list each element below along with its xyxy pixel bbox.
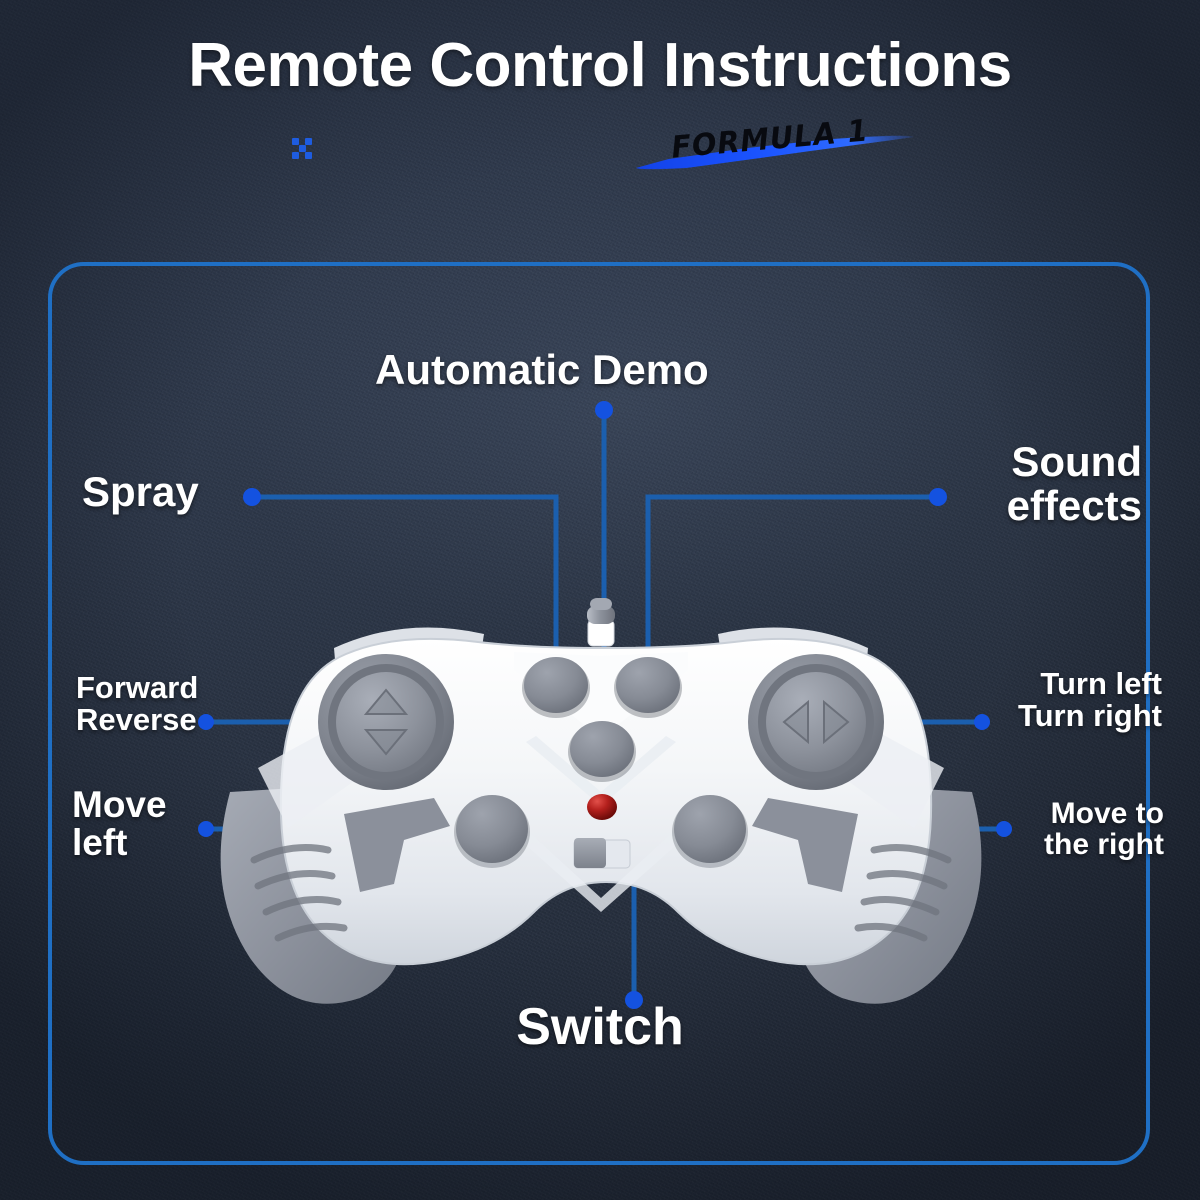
forward-reverse-dpad: [318, 654, 454, 790]
callout-label-spray: Spray: [82, 470, 199, 514]
connector-dot-automatic-demo: [595, 401, 613, 419]
antenna-stub: [587, 598, 615, 646]
callout-label-move-right: Move to the right: [1044, 798, 1164, 860]
turn-dpad: [748, 654, 884, 790]
callout-label-switch: Switch: [0, 1000, 1200, 1054]
sound-effects-button: [616, 657, 680, 713]
power-slide-switch: [574, 838, 630, 868]
callout-label-move-left: Move left: [72, 786, 167, 863]
callout-label-forward-reverse: Forward Reverse: [76, 672, 198, 736]
move-left-button: [456, 795, 528, 863]
spray-button: [524, 657, 588, 713]
move-right-button: [674, 795, 746, 863]
connector-dot-sound-effects: [929, 488, 947, 506]
callout-label-automatic-demo: Automatic Demo: [375, 348, 709, 392]
connector-dot-spray: [243, 488, 261, 506]
instruction-sheet: Remote Control Instructions FORMULA 1: [0, 0, 1200, 1200]
callout-label-turn: Turn left Turn right: [1018, 668, 1162, 732]
rc-transmitter: [196, 592, 1006, 1012]
automatic-demo-button: [570, 721, 634, 777]
callout-label-sound-effects: Sound effects: [1007, 440, 1142, 527]
power-led: [587, 794, 617, 820]
